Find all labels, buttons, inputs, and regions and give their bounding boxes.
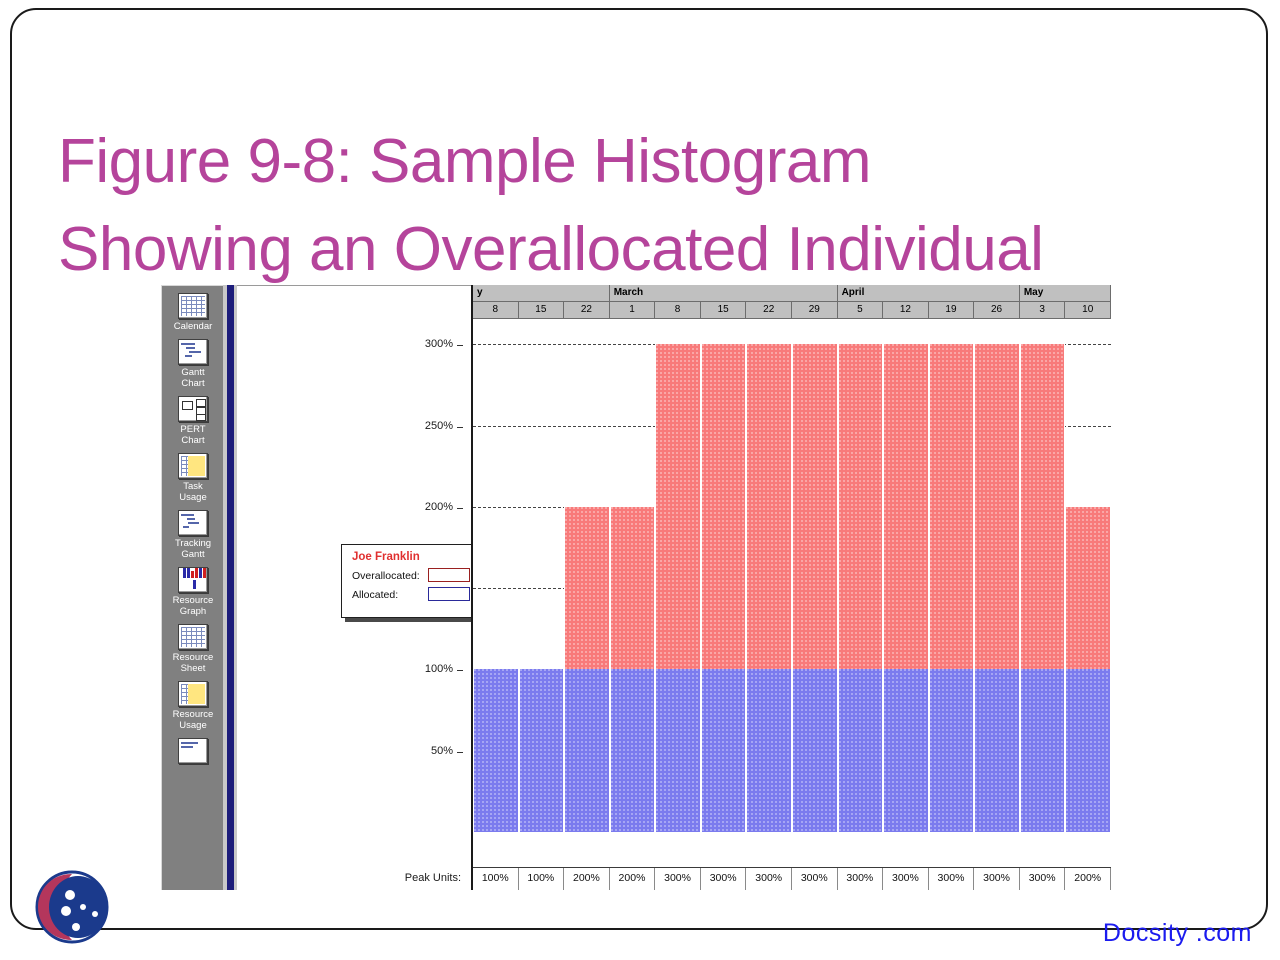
docsity-watermark: Docsity .com [1103,919,1252,948]
timescale-day-cell: 22 [564,302,610,319]
view-bar-item-label: Tracking Gantt [162,538,224,560]
bar-segment-overallocated [610,507,656,670]
timescale-month-cell: March [610,285,838,302]
resource-legend-box: Joe Franklin Overallocated: Allocated: [341,544,479,618]
bar-segment-allocated [1065,669,1111,832]
bar-segment-allocated [473,669,519,832]
peak-units-cell: 300% [655,868,701,890]
bar-segment-overallocated [838,344,884,669]
bar-segment-allocated [883,669,929,832]
peak-units-cell: 200% [564,868,610,890]
view-bar-item-label: Resource Sheet [162,652,224,674]
timescale-day-cell: 26 [974,302,1020,319]
presentation-slide: Figure 9-8: Sample Histogram Showing an … [0,0,1280,960]
view-bar-item-label: Resource Graph [162,595,224,617]
bar-segment-allocated [1020,669,1066,832]
histogram-bar[interactable] [929,344,975,832]
view-bar-item-more[interactable] [162,731,224,764]
timescale-day-cell: 12 [883,302,929,319]
bar-segment-overallocated [1065,507,1111,670]
y-axis-tick-mark [457,345,463,346]
bar-segment-overallocated [564,507,610,670]
timescale-day-cell: 1 [610,302,656,319]
peak-units-cell: 300% [838,868,884,890]
histogram-bar[interactable] [974,344,1020,832]
view-bar-item-calendar[interactable]: Calendar [162,286,224,332]
timescale-month-cell: May [1020,285,1111,302]
view-bar-item-label: Task Usage [162,481,224,503]
ms-project-screenshot: CalendarGantt ChartPERT ChartTask UsageT… [161,285,1111,890]
y-axis-tick-mark [457,427,463,428]
timescale-day-cell: 8 [473,302,519,319]
y-axis-tick-label: 300% [425,338,453,350]
bar-segment-allocated [519,669,565,832]
legend-label-allocated: Allocated: [352,589,398,601]
histogram-bar[interactable] [564,507,610,832]
timescale-day-cell: 5 [838,302,884,319]
y-axis-tick-mark [457,670,463,671]
resource-graph-chart-pane[interactable]: yMarchAprilMay 81522181522295121926310 1… [471,285,1111,890]
view-bar-item-tracking-gantt[interactable]: Tracking Gantt [162,503,224,560]
timescale-month-row: yMarchAprilMay [473,285,1111,302]
view-bar-item-resource-sheet[interactable]: Resource Sheet [162,617,224,674]
view-bar-item-resource-graph[interactable]: Resource Graph [162,560,224,617]
calendar-icon [178,293,208,319]
view-bar-item-label: Gantt Chart [162,367,224,389]
bar-segment-allocated [610,669,656,832]
bar-segment-overallocated [1020,344,1066,669]
bar-segment-overallocated [746,344,792,669]
view-bar-item-pert-chart[interactable]: PERT Chart [162,389,224,446]
peak-units-cell: 100% [473,868,519,890]
peak-units-cell: 200% [610,868,656,890]
resource-sheet-icon [178,624,208,650]
pane-split-bar[interactable] [223,285,237,890]
peak-units-cell: 100% [519,868,565,890]
histogram-bar[interactable] [838,344,884,832]
timescale-day-cell: 15 [519,302,565,319]
bar-segment-overallocated [792,344,838,669]
bar-segment-allocated [929,669,975,832]
bar-segment-allocated [838,669,884,832]
tracking-gantt-icon [178,510,208,536]
legend-label-overallocated: Overallocated: [352,570,420,582]
peak-units-row-label: Peak Units: [405,872,461,884]
y-axis-tick-label: 250% [425,420,453,432]
timescale-day-cell: 22 [746,302,792,319]
peak-units-cell: 300% [792,868,838,890]
peak-units-cell: 300% [1020,868,1066,890]
resource-graph-icon [178,567,208,593]
y-axis-tick-label: 200% [425,501,453,513]
histogram-bar[interactable] [792,344,838,832]
peak-units-cell: 300% [974,868,1020,890]
docsity-logo [26,869,118,945]
timescale-header[interactable]: yMarchAprilMay 81522181522295121926310 [473,285,1111,320]
view-bar-sidebar[interactable]: CalendarGantt ChartPERT ChartTask UsageT… [161,285,223,890]
histogram-bar[interactable] [610,507,656,832]
peak-units-row: 100%100%200%200%300%300%300%300%300%300%… [473,867,1111,890]
histogram-bar[interactable] [883,344,929,832]
histogram-bar[interactable] [519,669,565,832]
page-title: Figure 9-8: Sample Histogram Showing an … [58,118,1228,294]
legend-resource-name: Joe Franklin [352,551,478,563]
timescale-day-cell: 19 [929,302,975,319]
timescale-month-cell: April [838,285,1020,302]
bar-segment-allocated [701,669,747,832]
bar-segment-allocated [792,669,838,832]
histogram-bar[interactable] [655,344,701,832]
view-bar-item-label: PERT Chart [162,424,224,446]
resource-usage-icon [178,681,208,707]
y-axis-tick-mark [457,752,463,753]
peak-units-cell: 200% [1065,868,1111,890]
bar-segment-allocated [746,669,792,832]
view-bar-item-resource-usage[interactable]: Resource Usage [162,674,224,731]
bar-segment-overallocated [655,344,701,669]
timescale-day-cell: 15 [701,302,747,319]
view-bar-item-label: Calendar [162,321,224,332]
pert-chart-icon [178,396,208,422]
bar-segment-overallocated [974,344,1020,669]
bar-segment-overallocated [701,344,747,669]
histogram-bar[interactable] [1020,344,1066,832]
peak-units-cell: 300% [929,868,975,890]
timescale-day-cell: 8 [655,302,701,319]
timescale-day-cell: 10 [1065,302,1111,319]
docsity-logo-icon [26,869,118,945]
view-bar-item-gantt-chart[interactable]: Gantt Chart [162,332,224,389]
legend-row-overallocated: Overallocated: [352,566,478,585]
histogram-bar[interactable] [701,344,747,832]
bar-segment-overallocated [929,344,975,669]
histogram-plot-area[interactable] [473,320,1111,854]
overallocated-swatch [428,568,470,582]
y-axis-tick-label: 100% [425,663,453,675]
allocated-swatch [428,587,470,601]
split-bar-handle[interactable] [227,285,234,890]
legend-row-allocated: Allocated: [352,585,478,604]
peak-units-cell: 300% [746,868,792,890]
bar-segment-allocated [655,669,701,832]
peak-units-cell: 300% [701,868,747,890]
bar-segment-allocated [564,669,610,832]
view-bar-item-label: Resource Usage [162,709,224,731]
bar-segment-overallocated [883,344,929,669]
y-axis-tick-mark [457,508,463,509]
timescale-day-cell: 29 [792,302,838,319]
more-views-icon [178,738,208,764]
timescale-day-row: 81522181522295121926310 [473,302,1111,319]
histogram-bar[interactable] [746,344,792,832]
resource-graph-left-pane: 50%100%150%200%250%300% Joe Franklin Ove… [237,285,471,890]
task-usage-icon [178,453,208,479]
timescale-day-cell: 3 [1020,302,1066,319]
y-axis-tick-label: 50% [431,745,453,757]
peak-units-cell: 300% [883,868,929,890]
histogram-bar[interactable] [473,669,519,832]
gantt-chart-icon [178,339,208,365]
view-bar-item-task-usage[interactable]: Task Usage [162,446,224,503]
histogram-bar[interactable] [1065,507,1111,832]
bar-segment-allocated [974,669,1020,832]
timescale-month-cell: y [473,285,610,302]
